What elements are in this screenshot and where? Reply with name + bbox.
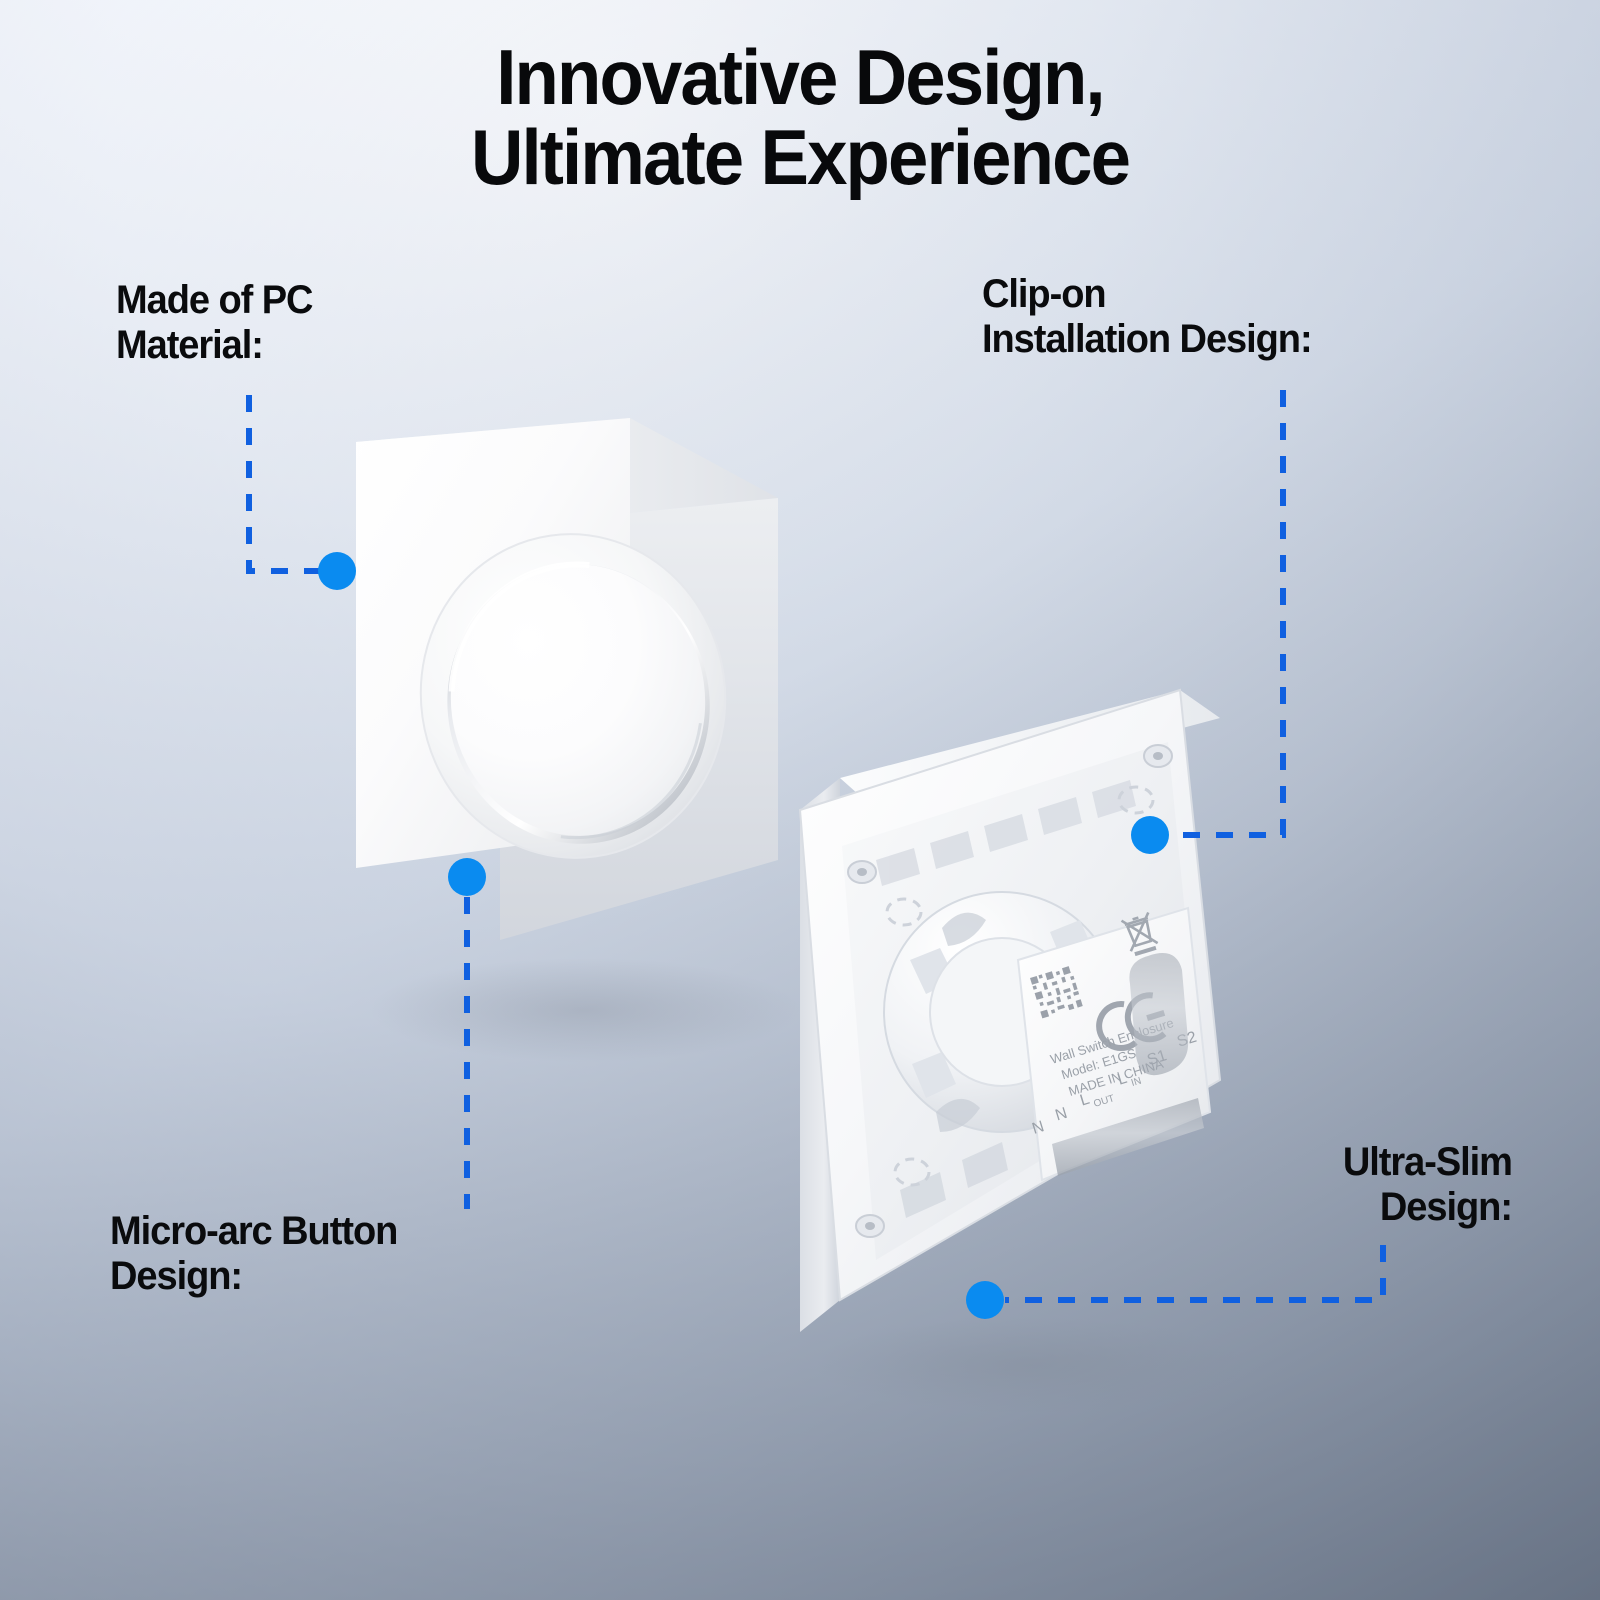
faceplate-illustration	[330, 400, 800, 1120]
page-title: Innovative Design, Ultimate Experience	[56, 38, 1544, 197]
faceplate-shadow	[370, 958, 800, 1062]
callout-label-micro-arc-button-design: Micro-arc Button Design:	[110, 1209, 397, 1299]
product-feature-graphic: Innovative Design, Ultimate Experience	[0, 0, 1600, 1600]
faceplate-image	[330, 400, 800, 1120]
back-module-illustration: Wall Switch Enclosure Model: E1GS MADE I…	[780, 660, 1260, 1420]
back-module-image: Wall Switch Enclosure Model: E1GS MADE I…	[780, 660, 1260, 1420]
callout-label-ultra-slim-design: Ultra-Slim Design:	[1343, 1140, 1512, 1230]
back-module-shadow	[815, 1317, 1245, 1413]
leader-line-made-of-pc-material	[249, 395, 322, 571]
callout-label-clip-on-installation: Clip-on Installation Design:	[982, 272, 1312, 362]
callout-label-made-of-pc-material: Made of PC Material:	[116, 278, 312, 368]
